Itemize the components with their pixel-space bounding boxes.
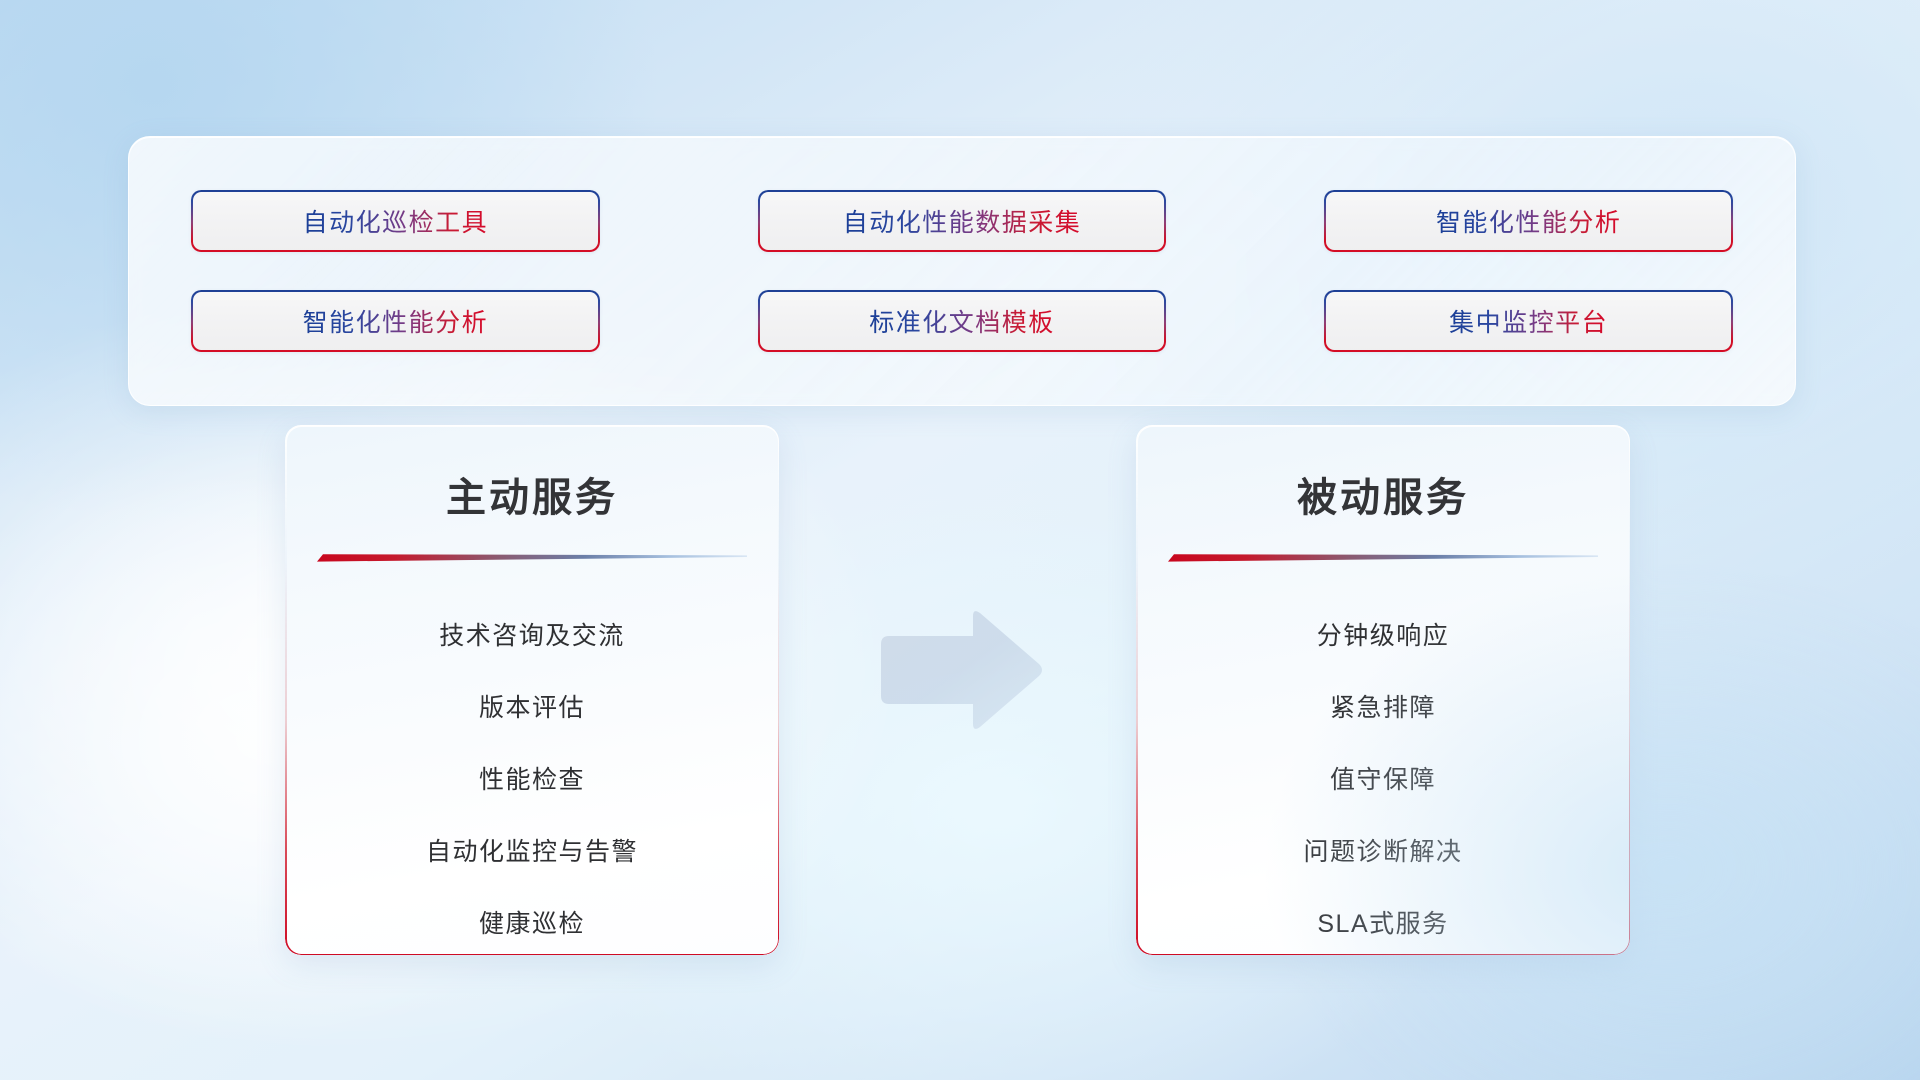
capability-pill-label: 智能化性能分析: [1436, 203, 1622, 239]
list-item: SLA式服务: [1136, 888, 1630, 955]
capability-pill-label: 集中监控平台: [1449, 303, 1608, 339]
service-card-list: 分钟级响应 紧急排障 值守保障 问题诊断解决 SLA式服务: [1136, 600, 1630, 955]
capability-pill-label: 标准化文档模板: [869, 303, 1055, 339]
capability-pill-1[interactable]: 自动化巡检工具: [191, 190, 600, 252]
capability-pill-label: 自动化巡检工具: [303, 203, 489, 239]
capability-pill-label: 智能化性能分析: [303, 303, 489, 339]
capability-pill-2[interactable]: 自动化性能数据采集: [758, 190, 1167, 252]
list-item: 问题诊断解决: [1136, 816, 1630, 888]
service-card-list: 技术咨询及交流 版本评估 性能检查 自动化监控与告警 健康巡检: [285, 600, 779, 955]
capability-pill-label: 自动化性能数据采集: [843, 203, 1082, 239]
list-item: 技术咨询及交流: [285, 600, 779, 672]
service-card-title: 被动服务: [1136, 465, 1630, 523]
list-item: 自动化监控与告警: [285, 816, 779, 888]
capability-pill-4[interactable]: 智能化性能分析: [191, 290, 600, 352]
arrow-right-icon: [875, 608, 1045, 733]
capability-pill-grid: 自动化巡检工具 自动化性能数据采集 智能化性能分析 智能化性能分析 标准化文档模…: [191, 175, 1733, 367]
card-title-divider: [317, 553, 747, 562]
capability-pill-5[interactable]: 标准化文档模板: [758, 290, 1167, 352]
capability-panel: 自动化巡检工具 自动化性能数据采集 智能化性能分析 智能化性能分析 标准化文档模…: [128, 136, 1796, 406]
card-title-divider: [1168, 553, 1598, 562]
list-item: 值守保障: [1136, 744, 1630, 816]
capability-pill-3[interactable]: 智能化性能分析: [1324, 190, 1733, 252]
list-item: 版本评估: [285, 672, 779, 744]
list-item: 紧急排障: [1136, 672, 1630, 744]
service-card-title: 主动服务: [285, 465, 779, 523]
list-item: 健康巡检: [285, 888, 779, 955]
infographic-canvas: 自动化巡检工具 自动化性能数据采集 智能化性能分析 智能化性能分析 标准化文档模…: [0, 0, 1920, 1080]
capability-pill-6[interactable]: 集中监控平台: [1324, 290, 1733, 352]
service-card-proactive: 主动服务 技术咨询及交流 版本评估 性能检查: [285, 425, 779, 955]
list-item: 分钟级响应: [1136, 600, 1630, 672]
list-item: 性能检查: [285, 744, 779, 816]
service-card-reactive: 被动服务 分钟级响应 紧急排障 值守保障: [1136, 425, 1630, 955]
